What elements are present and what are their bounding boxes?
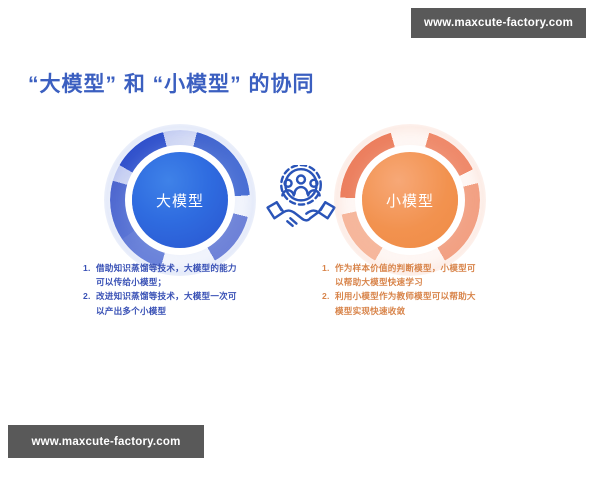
list-item-continuation: 以帮助大模型快速学习 (322, 276, 517, 289)
big-model-label: 大模型 (156, 190, 204, 211)
big-model-core: 大模型 (132, 152, 228, 248)
small-model-core: 小模型 (362, 152, 458, 248)
list-item: 2. 利用小模型作为教师模型可以帮助大 (322, 290, 517, 303)
watermark-top-text: www.maxcute-factory.com (424, 17, 573, 29)
list-item-text: 作为样本价值的判断模型，小模型可 (335, 262, 517, 275)
list-item-text: 借助知识蒸馏等技术，大模型的能力 (96, 262, 273, 275)
list-item-continuation: 可以传给小模型； (83, 276, 273, 289)
big-model-benefit-list: 1. 借助知识蒸馏等技术，大模型的能力 可以传给小模型； 2. 改进知识蒸馏等技… (83, 262, 273, 319)
list-item-text: 可以传给小模型； (96, 276, 273, 289)
list-item-text: 以产出多个小模型 (96, 305, 273, 318)
list-item-text: 利用小模型作为教师模型可以帮助大 (335, 290, 517, 303)
list-item: 1. 借助知识蒸馏等技术，大模型的能力 (83, 262, 273, 275)
synergy-diagram: 大模型 (0, 125, 600, 280)
big-model-node[interactable]: 大模型 (110, 130, 250, 270)
list-item-indent (83, 305, 96, 318)
small-model-benefit-list: 1. 作为样本价值的判断模型，小模型可 以帮助大模型快速学习 2. 利用小模型作… (322, 262, 517, 319)
list-item-indent (83, 276, 96, 289)
list-item-continuation: 模型实现快速收敛 (322, 305, 517, 318)
list-item-number: 2. (83, 290, 96, 303)
watermark-bottom-text: www.maxcute-factory.com (31, 436, 180, 448)
list-item-number: 1. (83, 262, 96, 275)
list-item: 1. 作为样本价值的判断模型，小模型可 (322, 262, 517, 275)
list-item-number: 2. (322, 290, 335, 303)
small-model-label: 小模型 (386, 190, 434, 211)
watermark-top: www.maxcute-factory.com (411, 8, 586, 38)
list-item-continuation: 以产出多个小模型 (83, 305, 273, 318)
list-item-indent (322, 276, 335, 289)
list-item-text: 以帮助大模型快速学习 (335, 276, 517, 289)
list-item-text: 改进知识蒸馏等技术，大模型一次可 (96, 290, 273, 303)
watermark-bottom: www.maxcute-factory.com (8, 425, 204, 458)
list-item-number: 1. (322, 262, 335, 275)
list-item: 2. 改进知识蒸馏等技术，大模型一次可 (83, 290, 273, 303)
list-item-indent (322, 305, 335, 318)
handshake-gear-people-icon (263, 165, 339, 235)
list-item-text: 模型实现快速收敛 (335, 305, 517, 318)
page-title: “大模型” 和 “小模型” 的协同 (28, 68, 315, 98)
small-model-node[interactable]: 小模型 (340, 130, 480, 270)
